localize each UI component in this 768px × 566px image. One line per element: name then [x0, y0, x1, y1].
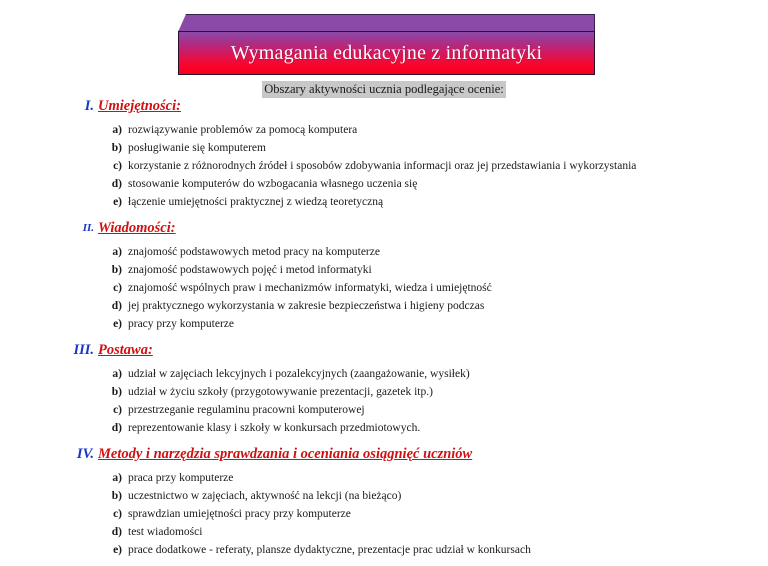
- list-item-marker: a): [104, 469, 122, 487]
- section-item-list: a)udział w zajęciach lekcyjnych i pozale…: [0, 365, 768, 437]
- list-item-text: korzystanie z różnorodnych źródeł i spos…: [128, 157, 636, 175]
- list-item: b)znajomość podstawowych pojęć i metod i…: [0, 261, 768, 279]
- list-item: b)posługiwanie się komputerem: [0, 139, 768, 157]
- list-item: c)przestrzeganie regulaminu pracowni kom…: [0, 401, 768, 419]
- list-item-text: sprawdzian umiejętności pracy przy kompu…: [128, 505, 351, 523]
- list-item: b)uczestnictwo w zajęciach, aktywność na…: [0, 487, 768, 505]
- list-item-marker: b): [104, 487, 122, 505]
- list-item: a)rozwiązywanie problemów za pomocą komp…: [0, 121, 768, 139]
- list-item-marker: e): [104, 315, 122, 333]
- list-item-text: udział w życiu szkoły (przygotowywanie p…: [128, 383, 433, 401]
- list-item-marker: d): [104, 419, 122, 437]
- list-item-text: rozwiązywanie problemów za pomocą komput…: [128, 121, 357, 139]
- list-item-text: uczestnictwo w zajęciach, aktywność na l…: [128, 487, 401, 505]
- list-item: e)łączenie umiejętności praktycznej z wi…: [0, 193, 768, 211]
- list-item-marker: d): [104, 523, 122, 541]
- list-item-text: znajomość wspólnych praw i mechanizmów i…: [128, 279, 492, 297]
- list-item: c)sprawdzian umiejętności pracy przy kom…: [0, 505, 768, 523]
- list-item-text: stosowanie komputerów do wzbogacania wła…: [128, 175, 417, 193]
- list-item: d)test wiadomości: [0, 523, 768, 541]
- section-heading: III.Postawa:: [0, 340, 768, 361]
- section: I.Umiejętności:a)rozwiązywanie problemów…: [0, 96, 768, 218]
- section-numeral: IV.: [30, 444, 94, 465]
- list-item-marker: b): [104, 383, 122, 401]
- section: II.Wiadomości:a)znajomość podstawowych m…: [0, 218, 768, 340]
- section-item-list: a)znajomość podstawowych metod pracy na …: [0, 243, 768, 333]
- list-item-marker: a): [104, 365, 122, 383]
- list-item: b)udział w życiu szkoły (przygotowywanie…: [0, 383, 768, 401]
- section-numeral: I.: [30, 96, 94, 117]
- spacer: [0, 437, 768, 444]
- list-item-text: łączenie umiejętności praktycznej z wied…: [128, 193, 383, 211]
- banner-face: Wymagania edukacyjne z informatyki: [178, 31, 595, 75]
- list-item: a)praca przy komputerze: [0, 469, 768, 487]
- spacer: [0, 333, 768, 340]
- list-item: e)pracy przy komputerze: [0, 315, 768, 333]
- list-item-marker: c): [104, 505, 122, 523]
- list-item-marker: c): [104, 279, 122, 297]
- title-banner: Wymagania edukacyjne z informatyki: [178, 14, 603, 76]
- list-item-marker: d): [104, 175, 122, 193]
- list-item-text: jej praktycznego wykorzystania w zakresi…: [128, 297, 484, 315]
- list-item-marker: b): [104, 139, 122, 157]
- list-item-text: przestrzeganie regulaminu pracowni kompu…: [128, 401, 365, 419]
- section-item-list: a)rozwiązywanie problemów za pomocą komp…: [0, 121, 768, 211]
- list-item: d)jej praktycznego wykorzystania w zakre…: [0, 297, 768, 315]
- list-item-marker: d): [104, 297, 122, 315]
- section-numeral: III.: [30, 340, 94, 361]
- list-item-text: znajomość podstawowych metod pracy na ko…: [128, 243, 380, 261]
- list-item-marker: e): [104, 193, 122, 211]
- section-title: Metody i narzędzia sprawdzania i ocenian…: [98, 444, 472, 465]
- section-title: Postawa:: [98, 340, 153, 361]
- list-item-text: udział w zajęciach lekcyjnych i pozalekc…: [128, 365, 470, 383]
- sections-container: I.Umiejętności:a)rozwiązywanie problemów…: [0, 96, 768, 566]
- section-item-list: a)praca przy komputerzeb)uczestnictwo w …: [0, 469, 768, 559]
- banner-top-bevel: [178, 14, 595, 32]
- list-item: a)znajomość podstawowych metod pracy na …: [0, 243, 768, 261]
- list-item-text: znajomość podstawowych pojęć i metod inf…: [128, 261, 372, 279]
- list-item: d)reprezentowanie klasy i szkoły w konku…: [0, 419, 768, 437]
- section: IV.Metody i narzędzia sprawdzania i ocen…: [0, 444, 768, 566]
- section-heading: I.Umiejętności:: [0, 96, 768, 117]
- list-item-marker: c): [104, 157, 122, 175]
- list-item-text: pracy przy komputerze: [128, 315, 234, 333]
- list-item-text: posługiwanie się komputerem: [128, 139, 266, 157]
- list-item-marker: b): [104, 261, 122, 279]
- spacer: [0, 559, 768, 566]
- list-item: a)udział w zajęciach lekcyjnych i pozale…: [0, 365, 768, 383]
- section: III.Postawa:a)udział w zajęciach lekcyjn…: [0, 340, 768, 444]
- list-item-text: praca przy komputerze: [128, 469, 233, 487]
- list-item-marker: e): [104, 541, 122, 559]
- list-item: d)stosowanie komputerów do wzbogacania w…: [0, 175, 768, 193]
- list-item-text: reprezentowanie klasy i szkoły w konkurs…: [128, 419, 420, 437]
- list-item: e)prace dodatkowe - referaty, plansze dy…: [0, 541, 768, 559]
- list-item-text: prace dodatkowe - referaty, plansze dyda…: [128, 541, 531, 559]
- section-numeral: II.: [30, 218, 94, 239]
- section-title: Umiejętności:: [98, 96, 181, 117]
- list-item: c)znajomość wspólnych praw i mechanizmów…: [0, 279, 768, 297]
- page-title: Wymagania edukacyjne z informatyki: [231, 42, 543, 65]
- list-item-marker: a): [104, 121, 122, 139]
- list-item: c)korzystanie z różnorodnych źródeł i sp…: [0, 157, 768, 175]
- list-item-marker: c): [104, 401, 122, 419]
- list-item-marker: a): [104, 243, 122, 261]
- section-heading: IV.Metody i narzędzia sprawdzania i ocen…: [0, 444, 768, 465]
- spacer: [0, 211, 768, 218]
- section-heading: II.Wiadomości:: [0, 218, 768, 239]
- section-title: Wiadomości:: [98, 218, 176, 239]
- list-item-text: test wiadomości: [128, 523, 202, 541]
